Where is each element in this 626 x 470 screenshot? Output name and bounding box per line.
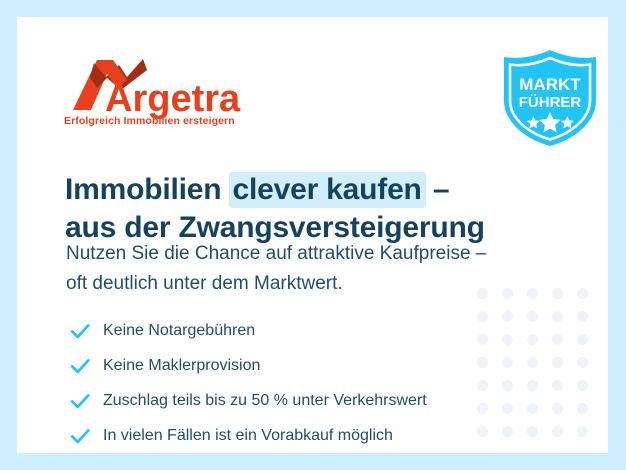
check-icon xyxy=(69,355,91,377)
decorative-dot xyxy=(577,426,588,437)
decorative-dot xyxy=(552,357,563,368)
logo-wordmark: Argetra xyxy=(105,78,241,120)
banner-card: Argetra Erfolgreich Immobilien ersteiger… xyxy=(17,17,608,453)
decorative-dot xyxy=(552,311,563,322)
headline-highlight: clever kaufen xyxy=(229,172,426,208)
badge-line2: FÜHRER xyxy=(519,94,582,111)
decorative-dot xyxy=(577,334,588,345)
benefit-label: Keine Maklerprovision xyxy=(103,355,260,377)
benefit-list: Keine Notargebühren Keine Maklerprovisio… xyxy=(69,315,539,453)
headline-line1-before: Immobilien xyxy=(65,173,230,206)
decorative-dot xyxy=(552,334,563,345)
headline-line-1: Immobilien clever kaufen – xyxy=(65,171,565,209)
benefit-label: Keine Notargebühren xyxy=(103,320,255,342)
decorative-dot xyxy=(577,311,588,322)
decorative-dot xyxy=(552,426,563,437)
subheadline-line-1: Nutzen Sie die Chance auf attraktive Kau… xyxy=(66,239,586,269)
list-item: Keine Notargebühren xyxy=(69,315,539,347)
subheadline: Nutzen Sie die Chance auf attraktive Kau… xyxy=(66,239,586,299)
headline-line1-after: – xyxy=(425,173,450,206)
benefit-label: Zuschlag teils bis zu 50 % unter Verkehr… xyxy=(103,390,427,412)
decorative-dot xyxy=(552,380,563,391)
check-icon xyxy=(69,425,91,447)
promo-banner: Argetra Erfolgreich Immobilien ersteiger… xyxy=(0,0,626,470)
list-item: In vielen Fällen ist ein Vorabkauf mögli… xyxy=(69,420,539,452)
list-item: Zuschlag teils bis zu 50 % unter Verkehr… xyxy=(69,385,539,417)
logo-tagline: Erfolgreich Immobilien ersteigern xyxy=(64,115,235,127)
argetra-logo-svg: Argetra Erfolgreich Immobilien ersteiger… xyxy=(57,55,257,127)
decorative-dot xyxy=(552,403,563,414)
decorative-dot xyxy=(577,357,588,368)
argetra-logo[interactable]: Argetra Erfolgreich Immobilien ersteiger… xyxy=(57,55,257,127)
market-leader-badge: MARKT FÜHRER xyxy=(498,48,602,148)
headline: Immobilien clever kaufen – aus der Zwang… xyxy=(65,171,565,247)
check-icon xyxy=(69,320,91,342)
shield-icon: MARKT FÜHRER xyxy=(498,48,602,148)
decorative-dot xyxy=(577,380,588,391)
list-item: Keine Maklerprovision xyxy=(69,350,539,382)
badge-line1: MARKT xyxy=(519,75,581,94)
check-icon xyxy=(69,390,91,412)
decorative-dot xyxy=(577,403,588,414)
benefit-label: In vielen Fällen ist ein Vorabkauf mögli… xyxy=(103,425,393,447)
subheadline-line-2: oft deutlich unter dem Marktwert. xyxy=(66,269,586,299)
